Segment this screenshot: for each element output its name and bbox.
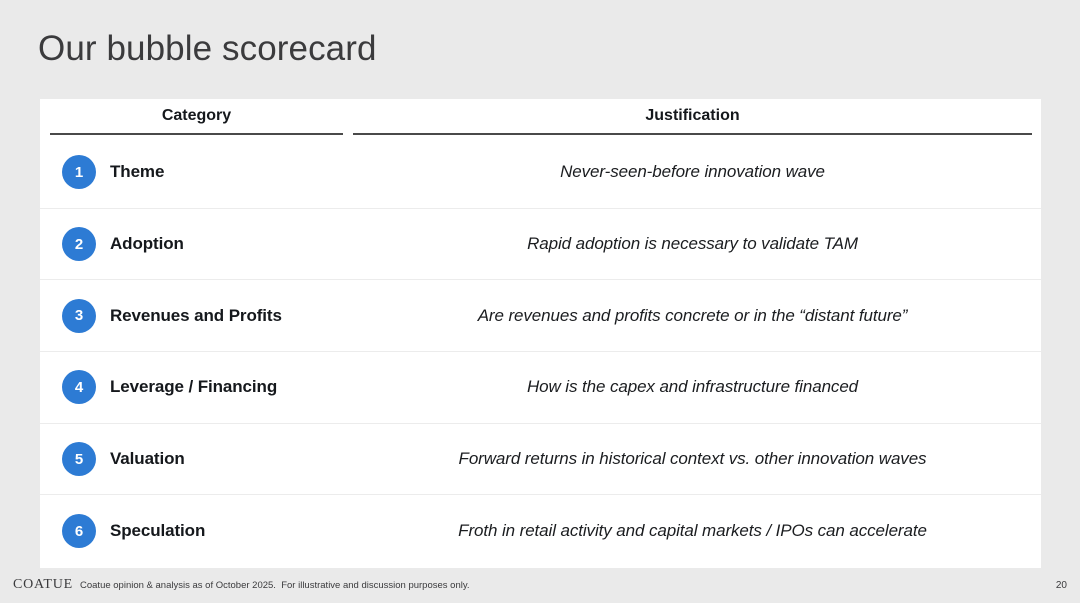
category-cell: 1 Theme bbox=[62, 137, 164, 208]
table-header-row: Category Justification bbox=[40, 99, 1041, 137]
table-row: 5 Valuation Forward returns in historica… bbox=[40, 424, 1041, 496]
row-number-bubble: 6 bbox=[62, 514, 96, 548]
row-number-bubble: 2 bbox=[62, 227, 96, 261]
table-row: 1 Theme Never-seen-before innovation wav… bbox=[40, 137, 1041, 209]
justification-cell: Are revenues and profits concrete or in … bbox=[353, 280, 1032, 351]
row-number-bubble: 5 bbox=[62, 442, 96, 476]
scorecard-card: Category Justification 1 Theme Never-see… bbox=[40, 99, 1041, 568]
table-row: 3 Revenues and Profits Are revenues and … bbox=[40, 280, 1041, 352]
column-header-category: Category bbox=[50, 107, 343, 125]
column-header-justification: Justification bbox=[353, 107, 1032, 125]
table-body: 1 Theme Never-seen-before innovation wav… bbox=[40, 137, 1041, 567]
category-label: Speculation bbox=[110, 521, 205, 541]
slide-title: Our bubble scorecard bbox=[38, 27, 377, 71]
column-rule-justification bbox=[353, 133, 1032, 135]
category-cell: 6 Speculation bbox=[62, 495, 205, 567]
slide-footer: COATUE Coatue opinion & analysis as of O… bbox=[0, 568, 1080, 603]
row-number-bubble: 1 bbox=[62, 155, 96, 189]
page-number: 20 bbox=[1056, 580, 1067, 591]
table-row: 2 Adoption Rapid adoption is necessary t… bbox=[40, 209, 1041, 281]
table-row: 4 Leverage / Financing How is the capex … bbox=[40, 352, 1041, 424]
row-number-bubble: 3 bbox=[62, 299, 96, 333]
row-number-bubble: 4 bbox=[62, 370, 96, 404]
category-label: Revenues and Profits bbox=[110, 306, 282, 326]
category-label: Adoption bbox=[110, 234, 184, 254]
category-label: Valuation bbox=[110, 449, 185, 469]
category-cell: 5 Valuation bbox=[62, 424, 185, 495]
category-cell: 2 Adoption bbox=[62, 209, 184, 280]
justification-cell: Forward returns in historical context vs… bbox=[353, 424, 1032, 495]
justification-cell: Never-seen-before innovation wave bbox=[353, 137, 1032, 208]
category-cell: 4 Leverage / Financing bbox=[62, 352, 277, 423]
justification-cell: Froth in retail activity and capital mar… bbox=[353, 495, 1032, 567]
column-rule-category bbox=[50, 133, 343, 135]
justification-cell: Rapid adoption is necessary to validate … bbox=[353, 209, 1032, 280]
category-label: Leverage / Financing bbox=[110, 377, 277, 397]
category-label: Theme bbox=[110, 162, 164, 182]
category-cell: 3 Revenues and Profits bbox=[62, 280, 282, 351]
footer-disclaimer: Coatue opinion & analysis as of October … bbox=[80, 580, 470, 591]
justification-cell: How is the capex and infrastructure fina… bbox=[353, 352, 1032, 423]
coatue-logo: COATUE bbox=[13, 577, 73, 593]
table-row: 6 Speculation Froth in retail activity a… bbox=[40, 495, 1041, 567]
